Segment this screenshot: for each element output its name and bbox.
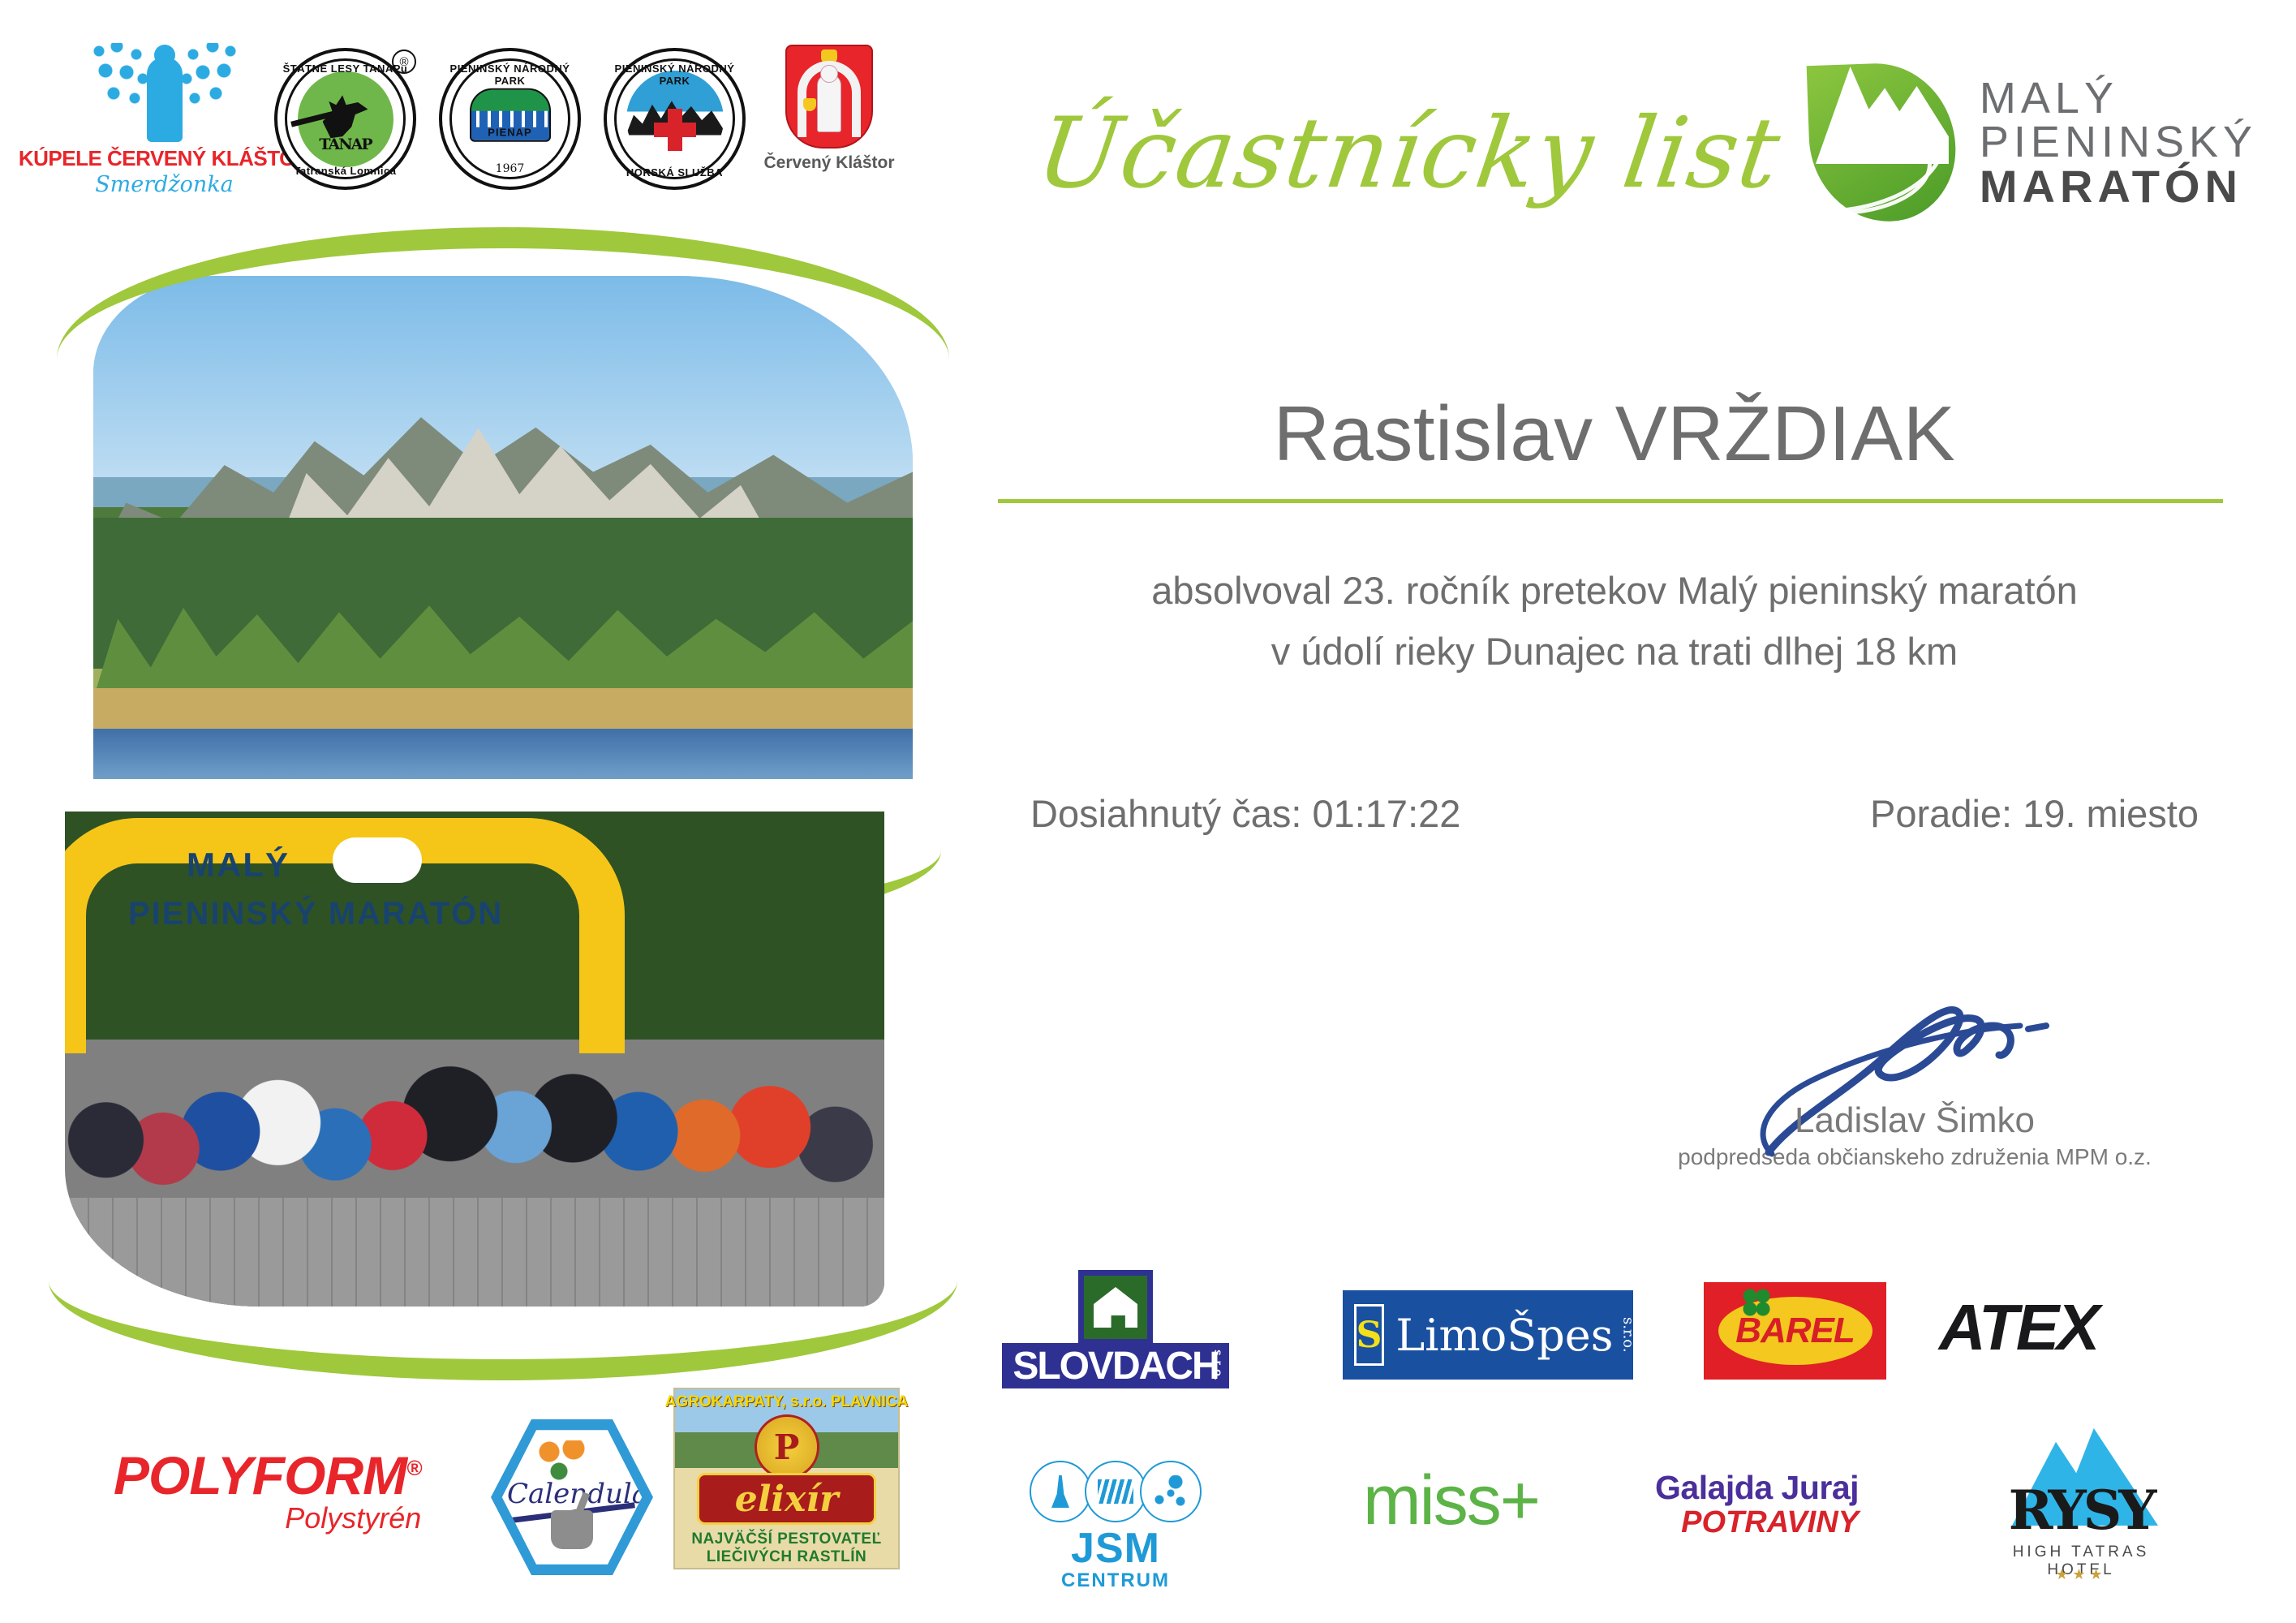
kupele-name: KÚPELE ČERVENÝ KLÁŠTOR bbox=[19, 146, 310, 171]
limospes-suffix: s.r.o. bbox=[1619, 1317, 1636, 1353]
logo-statne-lesy-tanapu: ® TANAP ŠTÁTNE LESY TANAPu Tatranská Lom… bbox=[274, 48, 416, 190]
name-divider-rule bbox=[998, 499, 2223, 503]
polyform-sub: Polystyrén bbox=[285, 1501, 421, 1535]
limospes-mark-icon: S bbox=[1354, 1304, 1385, 1366]
kupele-angel-icon bbox=[88, 37, 242, 146]
galajda-category: POTRAVINY bbox=[1681, 1505, 1859, 1540]
elixir-tagline-2: LIEČIVÝCH RASTLÍN bbox=[707, 1548, 866, 1566]
green-curve-bottom bbox=[49, 1181, 957, 1380]
photo-collage: MALÝ PIENINSKÝ MARATÓN bbox=[65, 243, 941, 1396]
marigold-flower-icon bbox=[535, 1440, 595, 1483]
hs-arc-bottom: HORSKÁ SLUŽBA bbox=[607, 166, 742, 179]
sponsor-elixir-agrokarpaty: AGROKARPATY, s.r.o. PLAVNICA P elixír NA… bbox=[673, 1388, 900, 1569]
sponsor-jsm-centrum: JSM CENTRUM bbox=[1014, 1461, 1217, 1592]
participant-name: Rastislav VRŽDIAK bbox=[1006, 390, 2223, 479]
pienap-year: 1967 bbox=[442, 162, 578, 175]
rysy-stars: ★★★ bbox=[1988, 1566, 2174, 1583]
arch-text-line-2: PIENINSKÝ MARATÓN bbox=[128, 896, 503, 932]
tanap-monogram: TANAP bbox=[319, 136, 371, 153]
logo-horska-sluzba: PIENINSKÝ NÁRODNÝ PARK HORSKÁ SLUŽBA bbox=[604, 48, 746, 190]
pienap-arc-top: PIENINSKÝ NÁRODNÝ PARK bbox=[442, 62, 578, 87]
brand-line-3: MARATÓN bbox=[1980, 164, 2257, 209]
description-line-1: absolvoval 23. ročník pretekov Malý pien… bbox=[1006, 568, 2223, 613]
four-leaf-clover-icon bbox=[1743, 1289, 1770, 1316]
cerveny-klastor-label: Červený Kláštor bbox=[763, 153, 894, 173]
rank-placement: Poradie: 19. miesto bbox=[1870, 791, 2199, 836]
sponsor-polyform: POLYFORM® Polystyrén bbox=[114, 1444, 421, 1535]
description-line-2: v údolí rieky Dunajec na trati dlhej 18 … bbox=[1006, 629, 2223, 674]
logo-cerveny-klastor-coat-of-arms: Červený Kláštor bbox=[768, 45, 890, 173]
jsm-sub: CENTRUM bbox=[1061, 1569, 1170, 1592]
barel-name: BAREL bbox=[1735, 1311, 1855, 1351]
sponsor-slovdach: SLOVDACH s.r.o. bbox=[1002, 1270, 1229, 1388]
slovdach-name: SLOVDACH bbox=[1013, 1344, 1218, 1388]
limospes-name: LimoŠpes bbox=[1395, 1310, 1613, 1361]
kupele-subname: Smerdžonka bbox=[95, 172, 234, 197]
tanap-arc-top: ŠTÁTNE LESY TANAPu bbox=[277, 62, 413, 75]
hs-arc-top: PIENINSKÝ NÁRODNÝ PARK bbox=[607, 62, 742, 87]
certificate-title: Účastnícky list bbox=[1030, 97, 1786, 210]
sponsor-calendula: Calendula bbox=[491, 1416, 653, 1578]
logo-kupele-cerveny-klastor: KÚPELE ČERVENÝ KLÁŠTOR Smerdžonka bbox=[77, 37, 252, 197]
limospes-mark-letter: S bbox=[1357, 1315, 1382, 1356]
green-curve-top bbox=[57, 227, 949, 492]
galajda-name: Galajda Juraj bbox=[1655, 1469, 1859, 1507]
leaf-mountain-icon bbox=[1809, 63, 1955, 222]
coat-of-arms-shield-icon bbox=[785, 45, 873, 149]
elixir-name: elixír bbox=[697, 1473, 876, 1525]
slovdach-suffix: s.r.o. bbox=[1212, 1350, 1225, 1381]
pienap-badge-icon: PIENAP bbox=[470, 88, 551, 141]
maly-pieninsky-maraton-logo: MALÝ PIENINSKÝ MARATÓN bbox=[1809, 63, 2257, 222]
brand-line-2: PIENINSKÝ bbox=[1980, 120, 2257, 164]
jsm-name: JSM bbox=[1071, 1524, 1160, 1573]
sponsor-miss-plus: miss+ bbox=[1363, 1461, 1539, 1541]
tanap-arc-bottom: Tatranská Lomnica bbox=[277, 165, 413, 177]
paint-roller-icon bbox=[1085, 1461, 1146, 1522]
red-cross-icon bbox=[654, 109, 696, 151]
signatory-name: Ladislav Šimko bbox=[1631, 1100, 2199, 1141]
arch-logo-badge bbox=[333, 837, 422, 883]
bell-icon bbox=[803, 98, 816, 111]
pienap-word: PIENAP bbox=[488, 126, 531, 138]
sponsor-limospes: S LimoŠpes s.r.o. bbox=[1343, 1290, 1633, 1380]
rysy-name: RYSY bbox=[1988, 1479, 2174, 1542]
house-roof-icon bbox=[1078, 1270, 1153, 1345]
atex-name: ATEX bbox=[1939, 1290, 2097, 1365]
polyform-registered: ® bbox=[406, 1456, 421, 1480]
elixir-tagline-1: NAJVÄČŠÍ PESTOVATEĽ bbox=[691, 1530, 881, 1548]
partner-logos-row: KÚPELE ČERVENÝ KLÁŠTOR Smerdžonka ® TANA… bbox=[77, 37, 890, 197]
signature-block: Ladislav Šimko podpredseda občianskeho z… bbox=[1631, 1006, 2199, 1170]
calendula-name: Calendula bbox=[507, 1478, 637, 1510]
polyform-name: POLYFORM bbox=[114, 1445, 406, 1505]
brand-line-1: MALÝ bbox=[1980, 76, 2257, 120]
spray-icon bbox=[1140, 1461, 1202, 1522]
logo-pieninsky-narodny-park: PIENAP PIENINSKÝ NÁRODNÝ PARK 1967 bbox=[439, 48, 581, 190]
result-row: Dosiahnutý čas: 01:17:22 Poradie: 19. mi… bbox=[1006, 791, 2223, 836]
elixir-seal-icon: P bbox=[755, 1414, 819, 1479]
miss-name: miss+ bbox=[1363, 1461, 1539, 1541]
finish-time: Dosiahnutý čas: 01:17:22 bbox=[1030, 791, 1460, 836]
elixir-company-line: AGROKARPATY, s.r.o. PLAVNICA bbox=[665, 1393, 909, 1411]
sponsor-galajda-juraj: Galajda Juraj POTRAVINY bbox=[1655, 1469, 1859, 1540]
sponsor-rysy-hotel: RYSY HIGH TATRAS HOTEL ★★★ bbox=[1988, 1428, 2174, 1591]
sponsor-atex: ATEX bbox=[1939, 1290, 2097, 1365]
arch-text-line-1: MALÝ bbox=[187, 846, 290, 885]
sponsor-barel: BAREL bbox=[1704, 1282, 1886, 1380]
paint-brush-icon bbox=[1030, 1461, 1091, 1522]
mortar-pestle-icon bbox=[551, 1510, 593, 1549]
